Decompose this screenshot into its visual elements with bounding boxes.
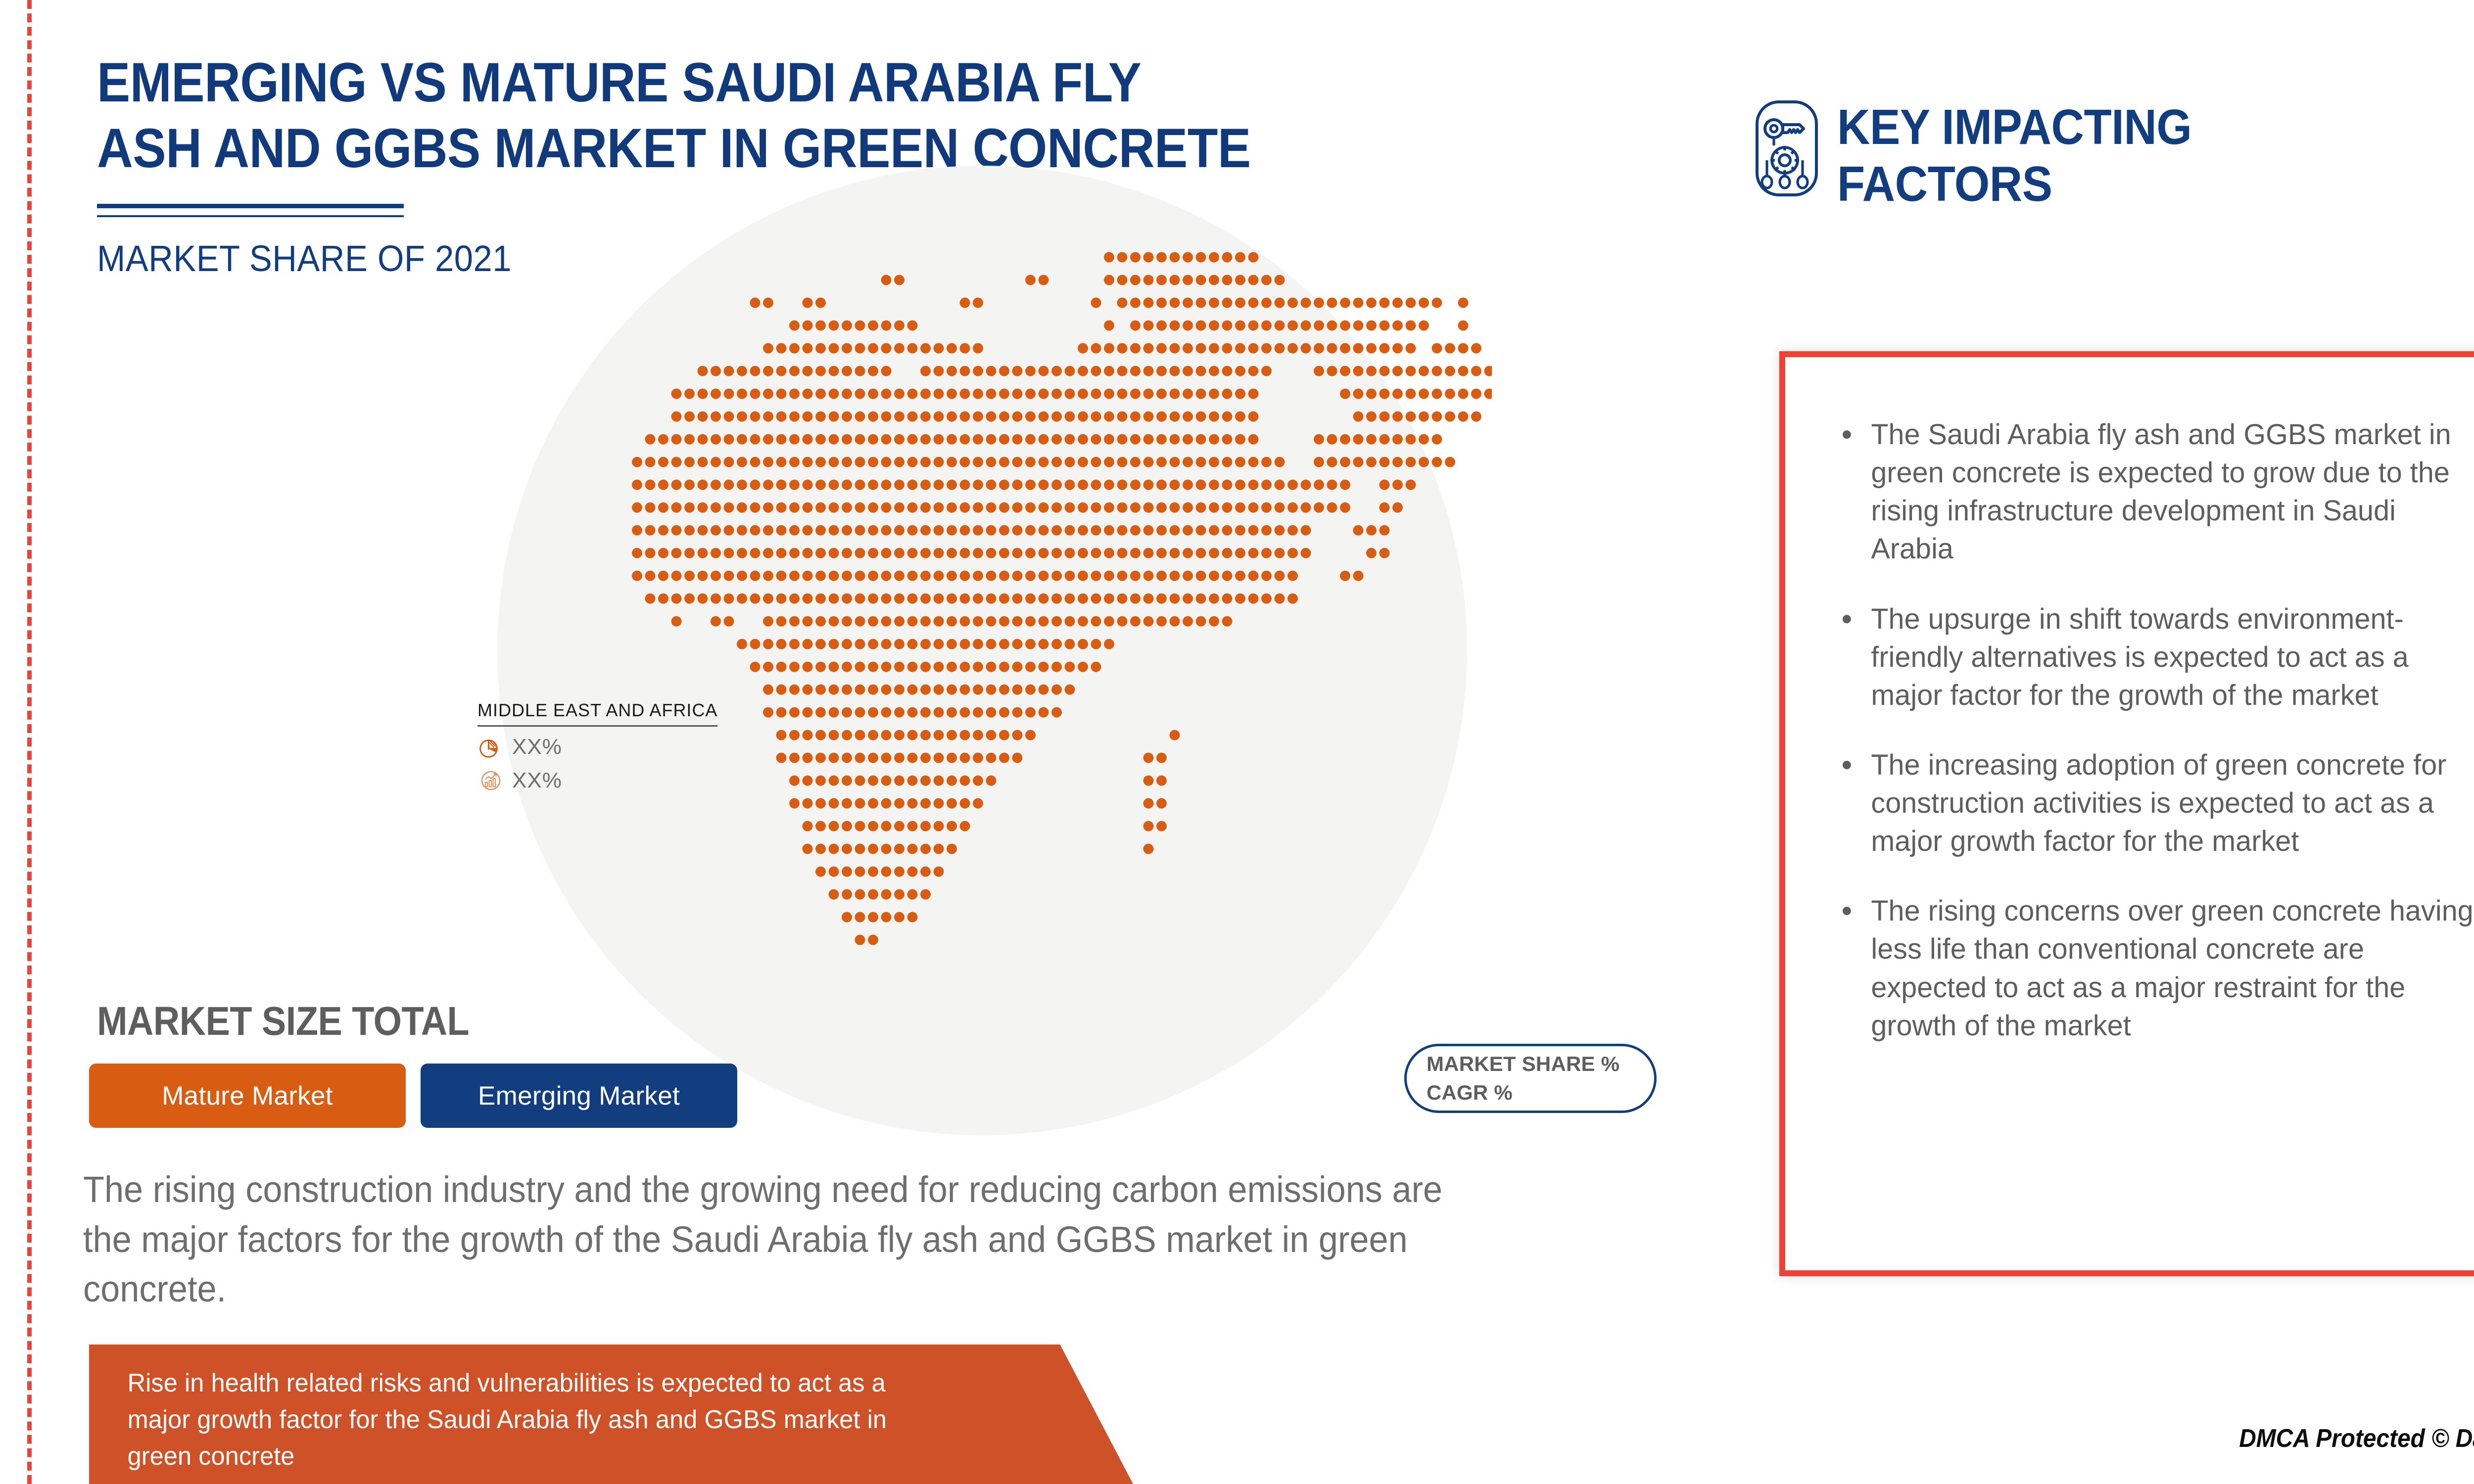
map-dots-svg <box>497 166 1492 1148</box>
map-legend: MIDDLE EAST AND AFRICA XX% XX% <box>477 700 784 794</box>
chip-emerging-market[interactable]: Emerging Market <box>421 1064 737 1128</box>
pie-chart-icon <box>477 734 504 760</box>
market-size-total-heading: MARKET SIZE TOTAL <box>97 998 469 1045</box>
list-item: The rising concerns over green concrete … <box>1841 892 2474 1045</box>
left-panel: EMERGING VS MATURE SAUDI ARABIA FLY ASH … <box>0 0 1682 1484</box>
map-legend-row-cagr: XX% <box>477 767 784 794</box>
title-divider <box>97 204 404 217</box>
list-item: The increasing adoption of green concret… <box>1841 746 2474 860</box>
key-gear-network-icon <box>1754 99 1819 198</box>
growth-factor-banner: Rise in health related risks and vulnera… <box>89 1345 1133 1484</box>
key-factors-title-line-1: KEY IMPACTING <box>1837 99 2191 156</box>
key-factors-header: KEY IMPACTING FACTORS <box>1754 99 2223 213</box>
title-divider-thin <box>97 215 404 217</box>
copyright-notice: DMCA Protected © DataBridge <box>2239 1424 2474 1453</box>
title-divider-thick <box>97 204 404 208</box>
page-title-line-1: EMERGING VS MATURE SAUDI ARABIA FLY <box>97 49 1388 115</box>
market-share-badge-line-1: MARKET SHARE % <box>1427 1050 1654 1078</box>
key-factors-title-line-2: FACTORS <box>1837 156 2191 213</box>
market-share-cagr-badge: MARKET SHARE % CAGR % <box>1404 1044 1657 1113</box>
map-legend-market-share-value: XX% <box>512 735 562 759</box>
list-item: The Saudi Arabia fly ash and GGBS market… <box>1841 416 2474 568</box>
market-legend-chips: Mature Market Emerging Market <box>89 1064 737 1128</box>
key-factors-list: The Saudi Arabia fly ash and GGBS market… <box>1841 416 2474 1076</box>
page-title: EMERGING VS MATURE SAUDI ARABIA FLY ASH … <box>97 49 1388 182</box>
market-share-badge-line-2: CAGR % <box>1427 1078 1654 1107</box>
growth-chart-icon <box>477 767 504 794</box>
growth-factor-banner-text: Rise in health related risks and vulnera… <box>89 1345 944 1475</box>
chip-mature-market[interactable]: Mature Market <box>89 1064 406 1128</box>
right-panel: KEY IMPACTING FACTORS The Saudi Arabia f… <box>1682 0 2474 1484</box>
key-factors-title: KEY IMPACTING FACTORS <box>1837 99 2191 213</box>
map-legend-row-market-share: XX% <box>477 734 784 760</box>
map-legend-region: MIDDLE EAST AND AFRICA <box>477 700 717 727</box>
map-legend-cagr-value: XX% <box>512 768 562 793</box>
list-item: The upsurge in shift towards environment… <box>1841 600 2474 714</box>
page-subtitle: MARKET SHARE OF 2021 <box>97 237 512 279</box>
title-divider-gap <box>97 208 404 215</box>
description-paragraph: The rising construction industry and the… <box>83 1165 1446 1314</box>
dotted-world-map <box>497 166 1492 1148</box>
